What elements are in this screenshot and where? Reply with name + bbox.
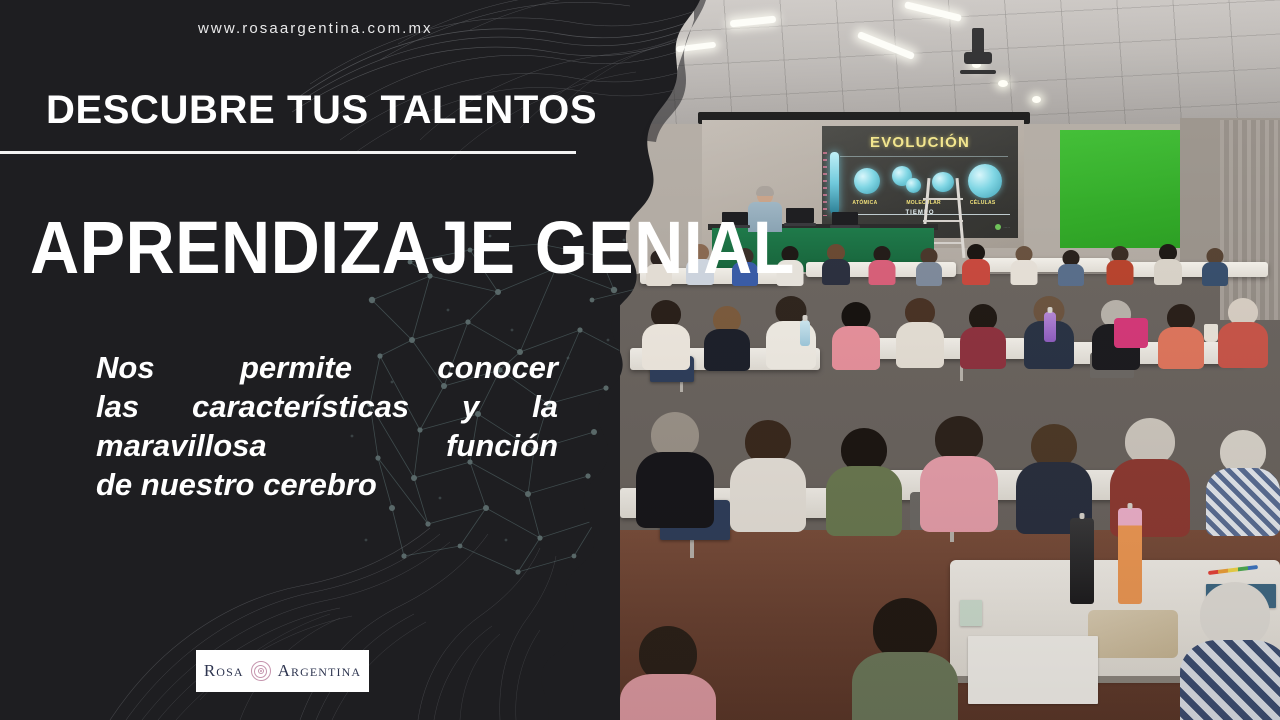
body-line: de nuestro cerebro [96, 465, 558, 504]
body-line: las características y la [96, 387, 558, 426]
promo-banner: EVOLUCIÓN ATÓMICA MOLECULAR CÉLULAS TIEM… [0, 0, 1280, 720]
page-title: APRENDIZAJE GENIAL [30, 205, 795, 290]
divider-rule [0, 151, 576, 154]
body-line: Nos permite conocer [96, 348, 558, 387]
body-copy: Nos permite conocer las características … [96, 348, 558, 504]
rose-icon [248, 658, 274, 684]
content-layer: www.rosaargentina.com.mx DESCUBRE TUS TA… [0, 0, 1280, 720]
brand-logo[interactable]: Rosa Argentina [196, 650, 369, 692]
kicker-heading: DESCUBRE TUS TALENTOS [46, 88, 597, 133]
body-line: maravillosa función [96, 426, 558, 465]
logo-word-argentina: Argentina [278, 661, 362, 681]
website-url[interactable]: www.rosaargentina.com.mx [198, 20, 433, 37]
logo-word-rosa: Rosa [204, 661, 244, 681]
